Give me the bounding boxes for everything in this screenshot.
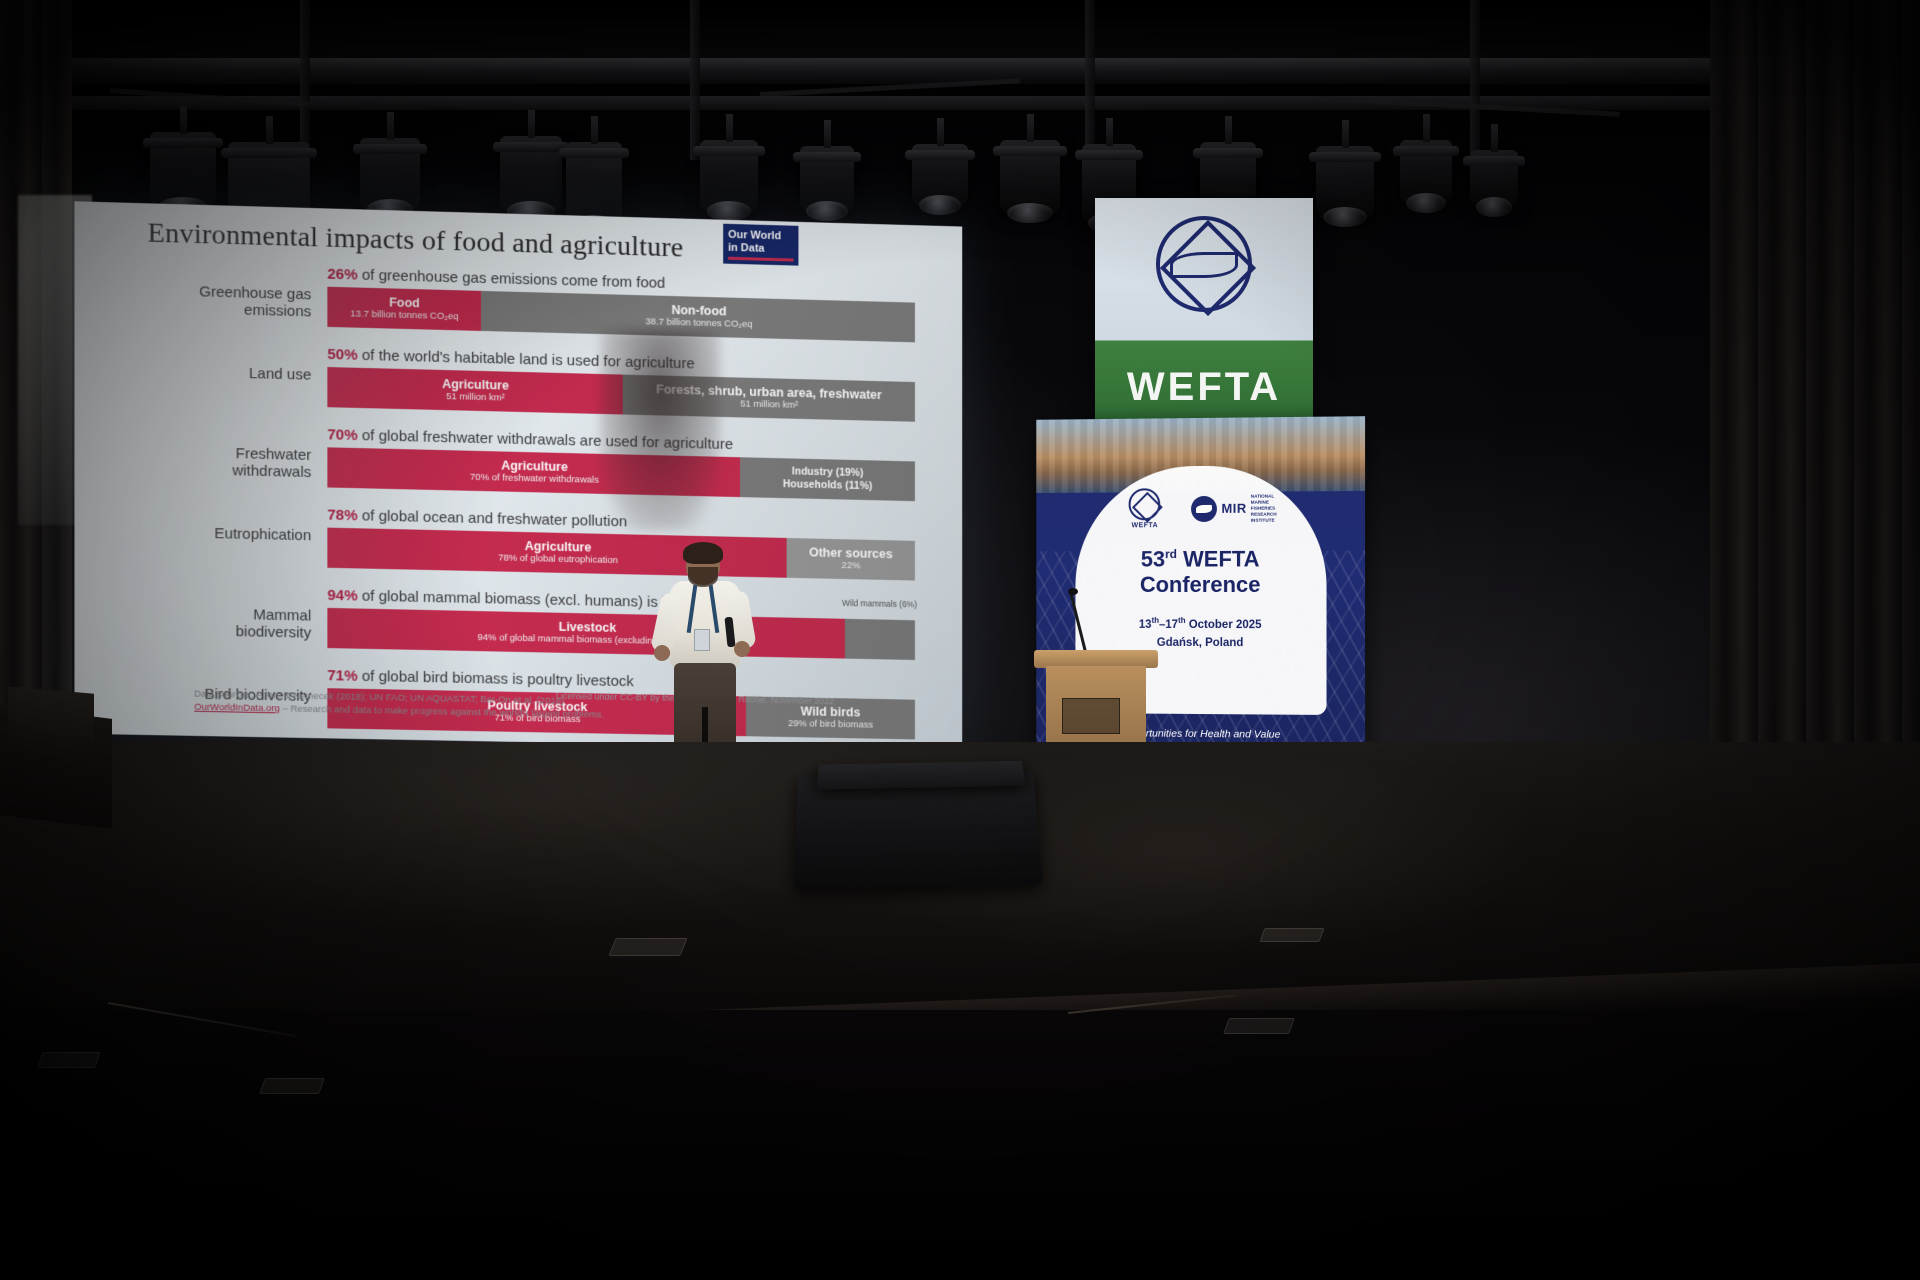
mir-fish-icon [1191,495,1217,521]
outside-annotation: Wild mammals (6%) [842,598,917,610]
banner-ordinal-number: 53 [1141,546,1165,571]
segment-sub: 70% of freshwater withdrawals [470,472,599,487]
stage-light [1316,146,1374,218]
stage-light [1400,140,1452,204]
chart-rows: Greenhouse gas emissions 26% of greenhou… [93,260,945,748]
segment-title: Food [389,295,420,310]
banner-org: WEFTA [1177,546,1260,571]
speaker-hair [683,542,723,564]
stage-light [1470,150,1518,208]
stacked-bar: Livestock 94% of global mammal biomass (… [327,608,915,660]
date-day-end: 17 [1165,619,1178,631]
stage-light [360,138,420,210]
lighting-truss-main [0,58,1920,84]
truss-beam [1470,0,1480,160]
bar-segment: Industry (19%) Households (11%) [740,457,915,501]
bar-segment [845,619,915,660]
floor-plate [1259,928,1324,942]
row-headline-pct: 50% [327,346,357,364]
row-headline-pct: 94% [327,587,357,605]
slide-title: Environmental impacts of food and agricu… [148,217,945,271]
mir-logo-subtitle: NATIONALMARINEFISHERIESRESEARCHINSTITUTE [1251,493,1277,523]
stage-foreground [0,1010,1920,1280]
row-label: Freshwater withdrawals [178,444,311,481]
wefta-wall-banner: WEFTA [1095,198,1313,428]
stage-light [500,136,562,212]
row-headline-pct: 70% [327,426,357,444]
owid-underline [728,257,793,262]
truss-beam [1085,0,1095,160]
speaker-shadow [600,330,720,530]
row-headline-pct: 71% [327,667,357,685]
floor-plate [608,938,687,956]
row-label: Mammal biodiversity [178,605,311,642]
floor-plate [259,1078,325,1094]
mir-logo: MIR NATIONALMARINEFISHERIESRESEARCHINSTI… [1191,493,1276,524]
stage-scene: Environmental impacts of food and agricu… [0,0,1920,1280]
wefta-logo: WEFTA [1124,488,1166,529]
segment-title: Agriculture [501,459,568,475]
segment-sub: 13.7 billion tonnes CO₂eq [350,308,458,323]
segment-sub: 78% of global eutrophication [498,552,618,567]
stage-monitor-wedge [817,761,1026,790]
stage-light [1000,140,1060,214]
banner-ordinal-suffix: rd [1165,547,1177,561]
stage-box-left [8,686,94,760]
stage-light [700,140,758,212]
stage-light [150,132,216,208]
ceiling [0,0,1920,60]
floor-plate [1223,1018,1295,1034]
stacked-bar: Agriculture 78% of global eutrophication… [327,528,915,581]
speaker-hand-right [734,641,750,657]
row-headline: 78% of global ocean and freshwater pollu… [327,507,627,531]
banner-title: 53rd WEFTA Conference [1075,541,1326,599]
segment-sub: 51 million km² [446,391,505,404]
row-label: Eutrophication [178,524,311,544]
segment-sub: 29% of bird biomass [788,718,873,732]
banner-dates: 13th–17th October 2025 Gdańsk, Poland [1075,612,1326,652]
microphone-head-icon [1068,588,1078,595]
row-headline: 71% of global bird biomass is poultry li… [327,667,633,690]
truss-beam [690,0,700,160]
banner-logos: WEFTA MIR NATIONALMARINEFISHERIESRESEARC… [1075,487,1326,529]
segment-sub: 38.7 billion tonnes CO₂eq [645,316,752,331]
chart-row-greenhouse: Greenhouse gas emissions 26% of greenhou… [93,260,945,351]
row-headline-pct: 78% [327,507,357,525]
segment-title: Wild birds [801,704,861,719]
stage-light [566,142,622,226]
bar-segment: Other sources 22% [787,538,915,581]
speaker-badge [694,629,710,651]
wall-banner-text: WEFTA [1095,365,1313,410]
floor-plate [37,1052,100,1068]
owid-line2: in Data [728,241,764,254]
date-day-start: 13 [1139,619,1152,631]
row-headline-rest: of global bird biomass is poultry livest… [358,668,634,690]
segment-title: Agriculture [525,539,592,554]
owid-link[interactable]: OurWorldInData.org [194,702,280,715]
banner-location: Gdańsk, Poland [1157,637,1244,649]
mir-logo-text: MIR [1221,501,1246,516]
row-headline-pct: 26% [327,266,357,284]
bar-segment: Agriculture 51 million km² [327,367,622,414]
chart-row-freshwater: Freshwater withdrawals 70% of global fre… [93,422,945,510]
wefta-logo-text: WEFTA [1124,522,1166,529]
stage-curtain-right [1710,0,1920,820]
date-sup-end: th [1178,616,1186,625]
banner-title-line2: Conference [1140,572,1261,597]
date-month-year: October 2025 [1186,619,1262,631]
wefta-emblem-icon [1129,488,1161,520]
chart-row-mammal: Mammal biodiversity 94% of global mammal… [93,583,945,669]
speaker-hand-left [654,645,670,661]
lectern-control-panel [1062,698,1120,734]
segment-sub: 22% [842,560,861,572]
slide-content: Environmental impacts of food and agricu… [74,201,962,750]
segment-sub: 51 million km² [740,398,798,411]
segment-sub: Households (11%) [783,478,872,493]
chart-row-eutrophication: Eutrophication 78% of global ocean and f… [93,502,945,589]
bar-segment: Food 13.7 billion tonnes CO₂eq [327,287,481,331]
fish-icon [1170,252,1238,278]
stage-light [912,144,968,206]
segment-title: Livestock [559,620,617,635]
row-label: Land use [178,363,311,383]
truss-beam [300,0,310,160]
segment-title: Other sources [809,545,893,561]
projection-screen: Environmental impacts of food and agricu… [74,201,962,750]
segment-title: Non-food [671,303,726,318]
date-sup-start: th [1152,616,1159,625]
stage-light [800,146,854,212]
row-headline-rest: of global ocean and freshwater pollution [358,507,628,530]
owid-line1: Our World [728,229,781,242]
our-world-in-data-logo: Our World in Data [723,224,798,266]
row-label: Greenhouse gas emissions [178,283,311,321]
chart-row-land-use: Land use 50% of the world's habitable la… [93,341,945,431]
